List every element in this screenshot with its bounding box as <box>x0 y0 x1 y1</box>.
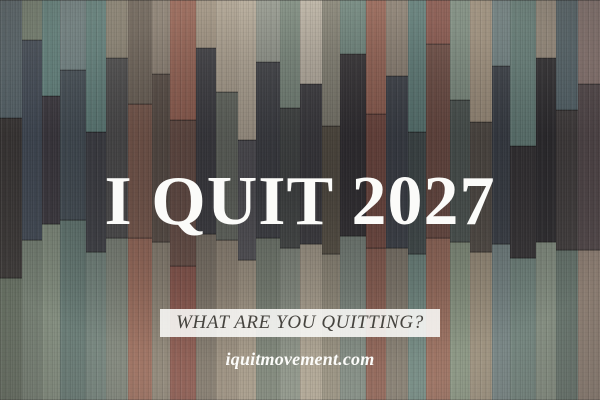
page-title: I QUIT 2027 <box>0 167 600 237</box>
subtitle-banner: WHAT ARE YOU QUITTING? <box>160 309 440 337</box>
subtitle-row: WHAT ARE YOU QUITTING? <box>0 309 600 337</box>
poster-content: I QUIT 2027 WHAT ARE YOU QUITTING? iquit… <box>0 0 600 400</box>
website-url: iquitmovement.com <box>0 348 600 370</box>
poster-image: I QUIT 2027 WHAT ARE YOU QUITTING? iquit… <box>0 0 600 400</box>
